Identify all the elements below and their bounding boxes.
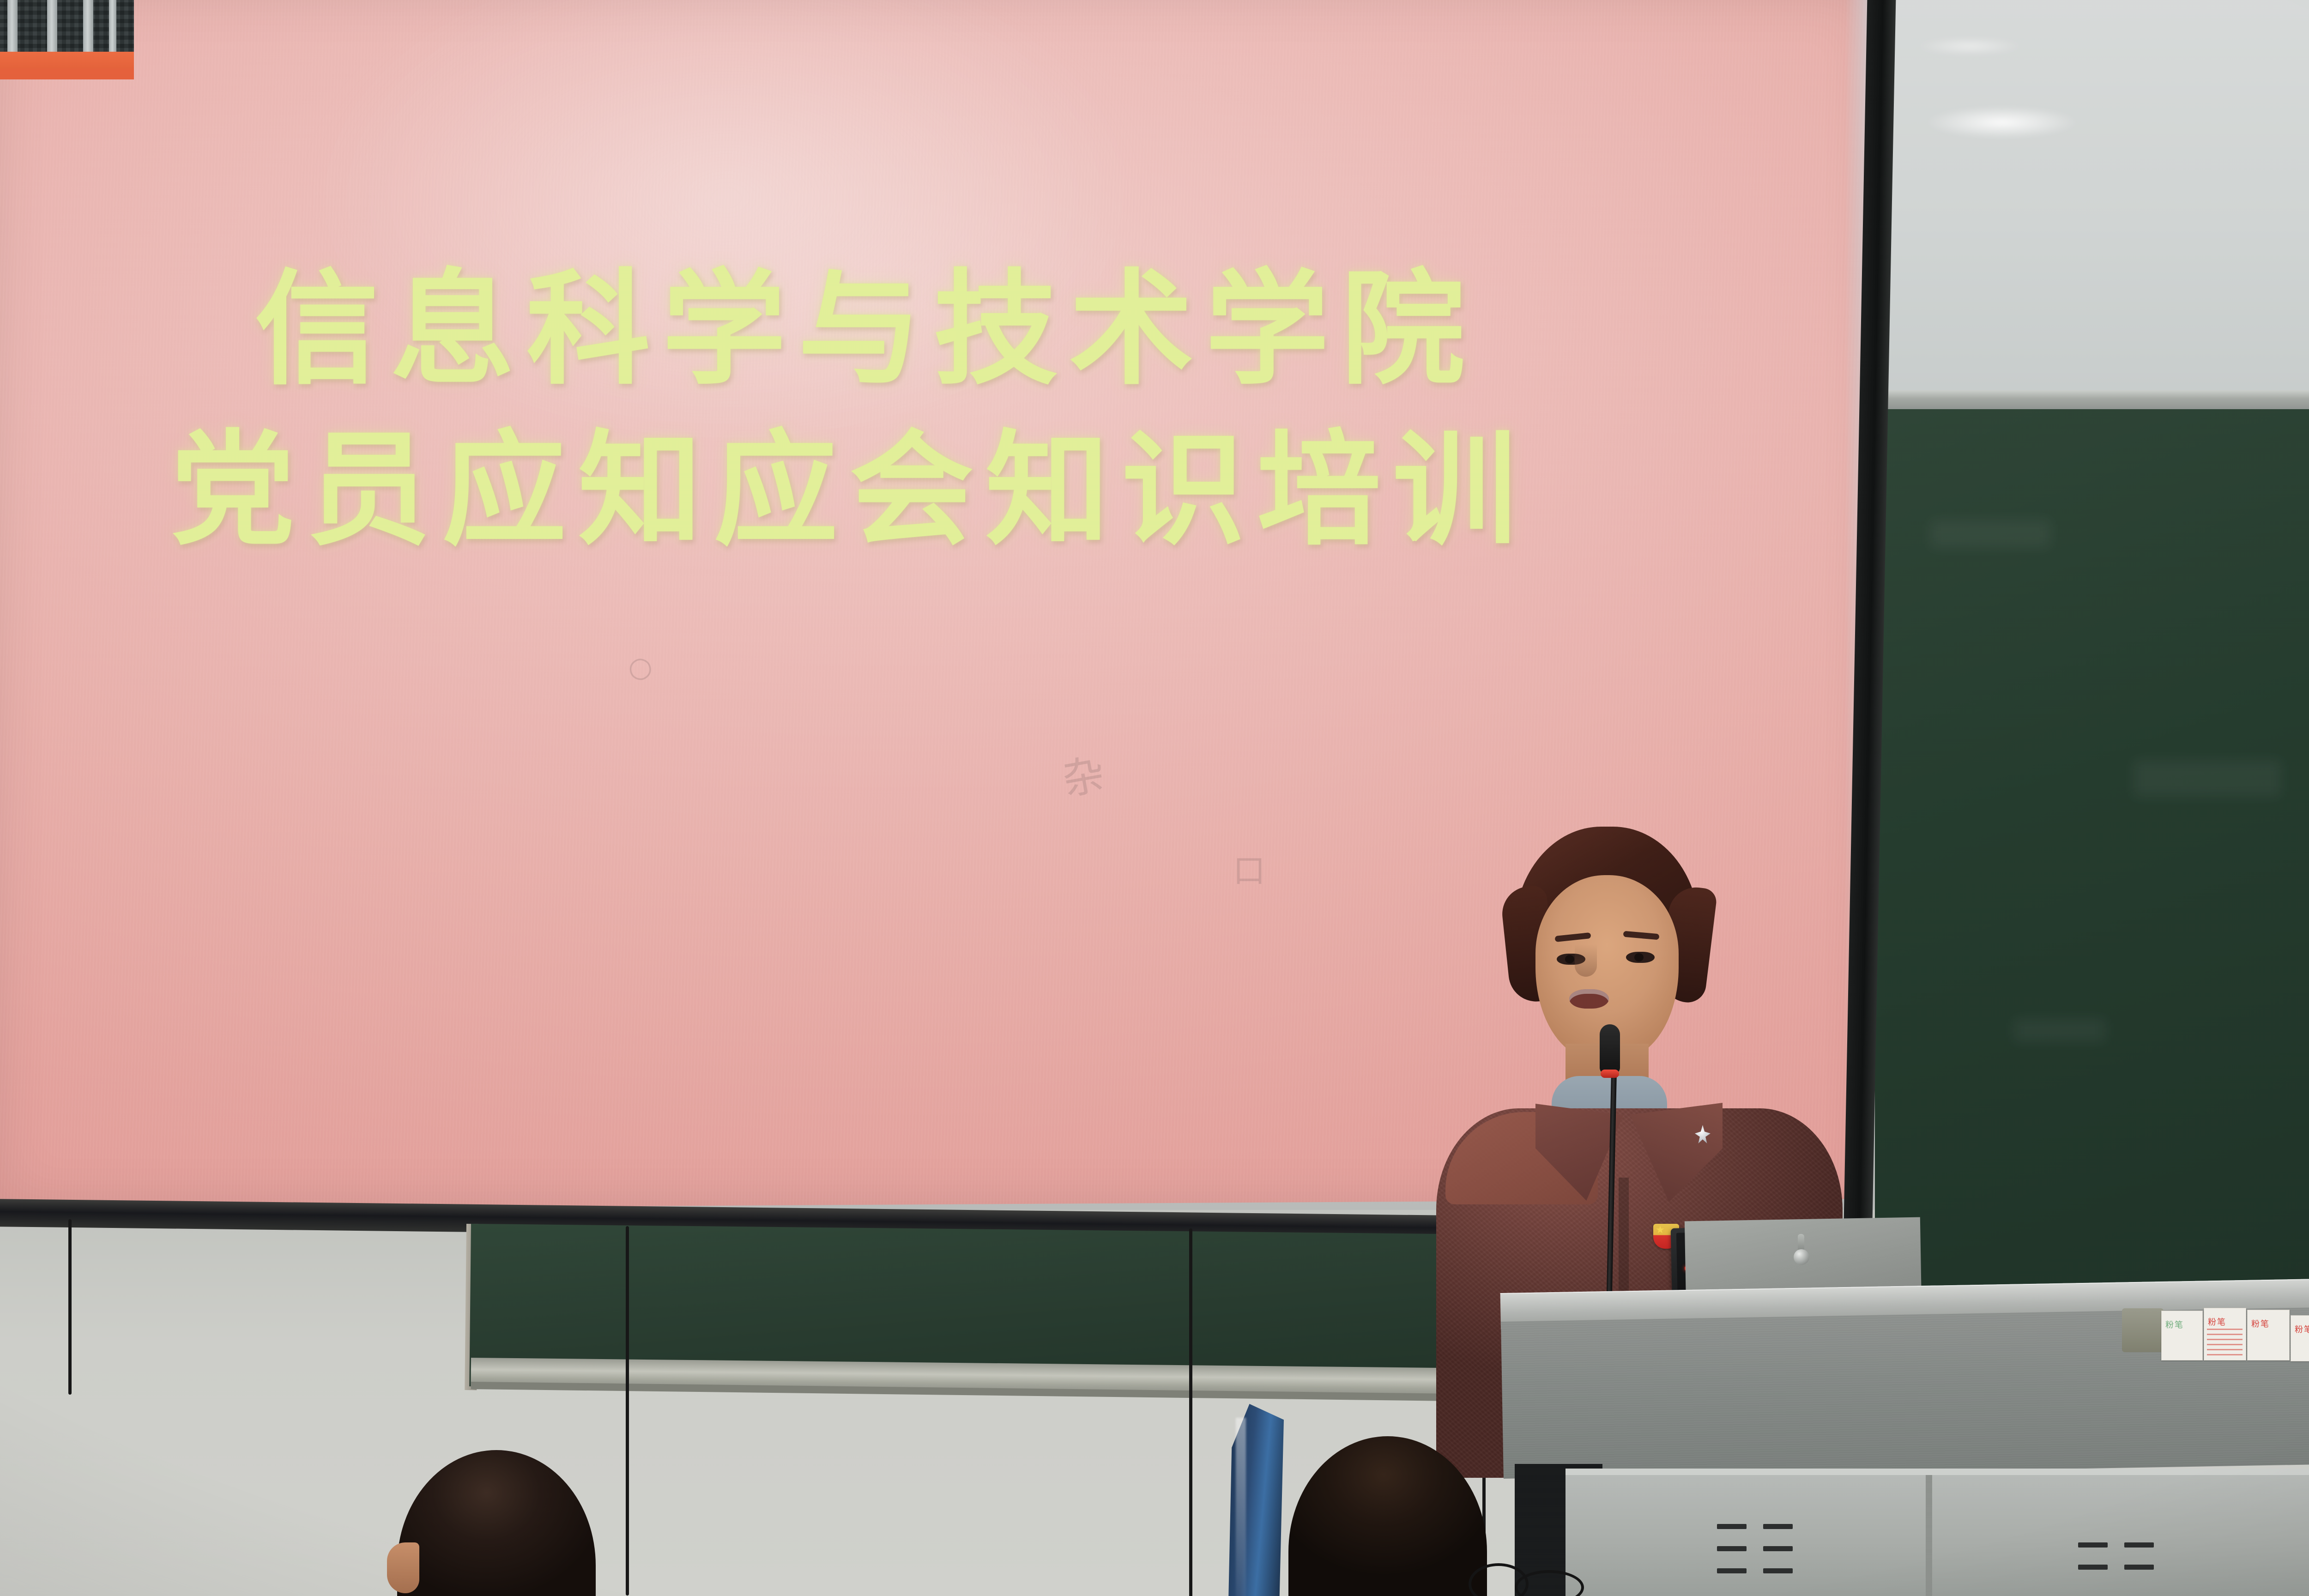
- microphone-icon: [1600, 1024, 1620, 1074]
- board-eraser[interactable]: [2122, 1308, 2164, 1352]
- hanging-cord-1: [68, 1219, 72, 1395]
- speaker-brow-left: [1555, 932, 1591, 942]
- wall-glare-highlight: [1926, 106, 2078, 139]
- podium-cabinet-divider: [1926, 1475, 1932, 1596]
- speaker-nose: [1575, 944, 1597, 977]
- speaker-mouth: [1569, 989, 1609, 1009]
- chalk-box[interactable]: 粉笔: [2161, 1311, 2203, 1360]
- podium-vent-slot: [1717, 1546, 1747, 1551]
- speaker-brow-right: [1623, 931, 1660, 940]
- chalk-box-label: 粉笔: [2295, 1323, 2309, 1335]
- classroom-photo-scene: ○ 杂 口 信息科学与技术学院 党员应知应会知识培训: [0, 0, 2309, 1596]
- podium-base-edge: [1566, 1469, 2309, 1475]
- chalk-box-label: 粉笔: [2251, 1318, 2293, 1330]
- podium-vent-slot: [1763, 1546, 1793, 1551]
- chalk-box-label: 粉笔: [2208, 1316, 2249, 1328]
- podium-vent-slot: [1763, 1524, 1793, 1529]
- audience-ear-left: [387, 1542, 419, 1593]
- podium-base-cabinet: [1566, 1469, 2309, 1596]
- hanging-cord-2: [626, 1226, 629, 1596]
- screen-mount-rail: [1875, 390, 2309, 411]
- podium-lock-icon[interactable]: [1794, 1249, 1809, 1265]
- chalk-sticks-stack: [2198, 1337, 2309, 1366]
- party-pin-star: [1656, 1226, 1664, 1234]
- wall-glare-highlight-secondary: [1916, 37, 2023, 55]
- podium-vent-slot: [2124, 1565, 2154, 1570]
- speaker-eye-right: [1626, 952, 1655, 963]
- window-frame-lower-edge: [0, 68, 134, 79]
- podium-vent-slot: [2124, 1542, 2154, 1548]
- podium-vent-slot: [1717, 1568, 1747, 1573]
- hanging-cord-3: [1189, 1228, 1192, 1596]
- podium-vent-slot: [1763, 1568, 1793, 1573]
- microphone-indicator-ring: [1601, 1070, 1619, 1078]
- podium-lock-latch: [1798, 1234, 1804, 1250]
- podium-vent-slot: [2078, 1565, 2108, 1570]
- right-wall-panel: [1875, 0, 2309, 411]
- blue-folder-highlight: [1236, 1418, 1246, 1596]
- chalkboard-right: [1875, 409, 2309, 1328]
- podium-vent-slot: [2078, 1542, 2108, 1548]
- screen-glare: [142, 0, 1312, 551]
- podium-vent-slot: [1717, 1524, 1747, 1529]
- chalk-box-label: 粉笔: [2165, 1318, 2206, 1330]
